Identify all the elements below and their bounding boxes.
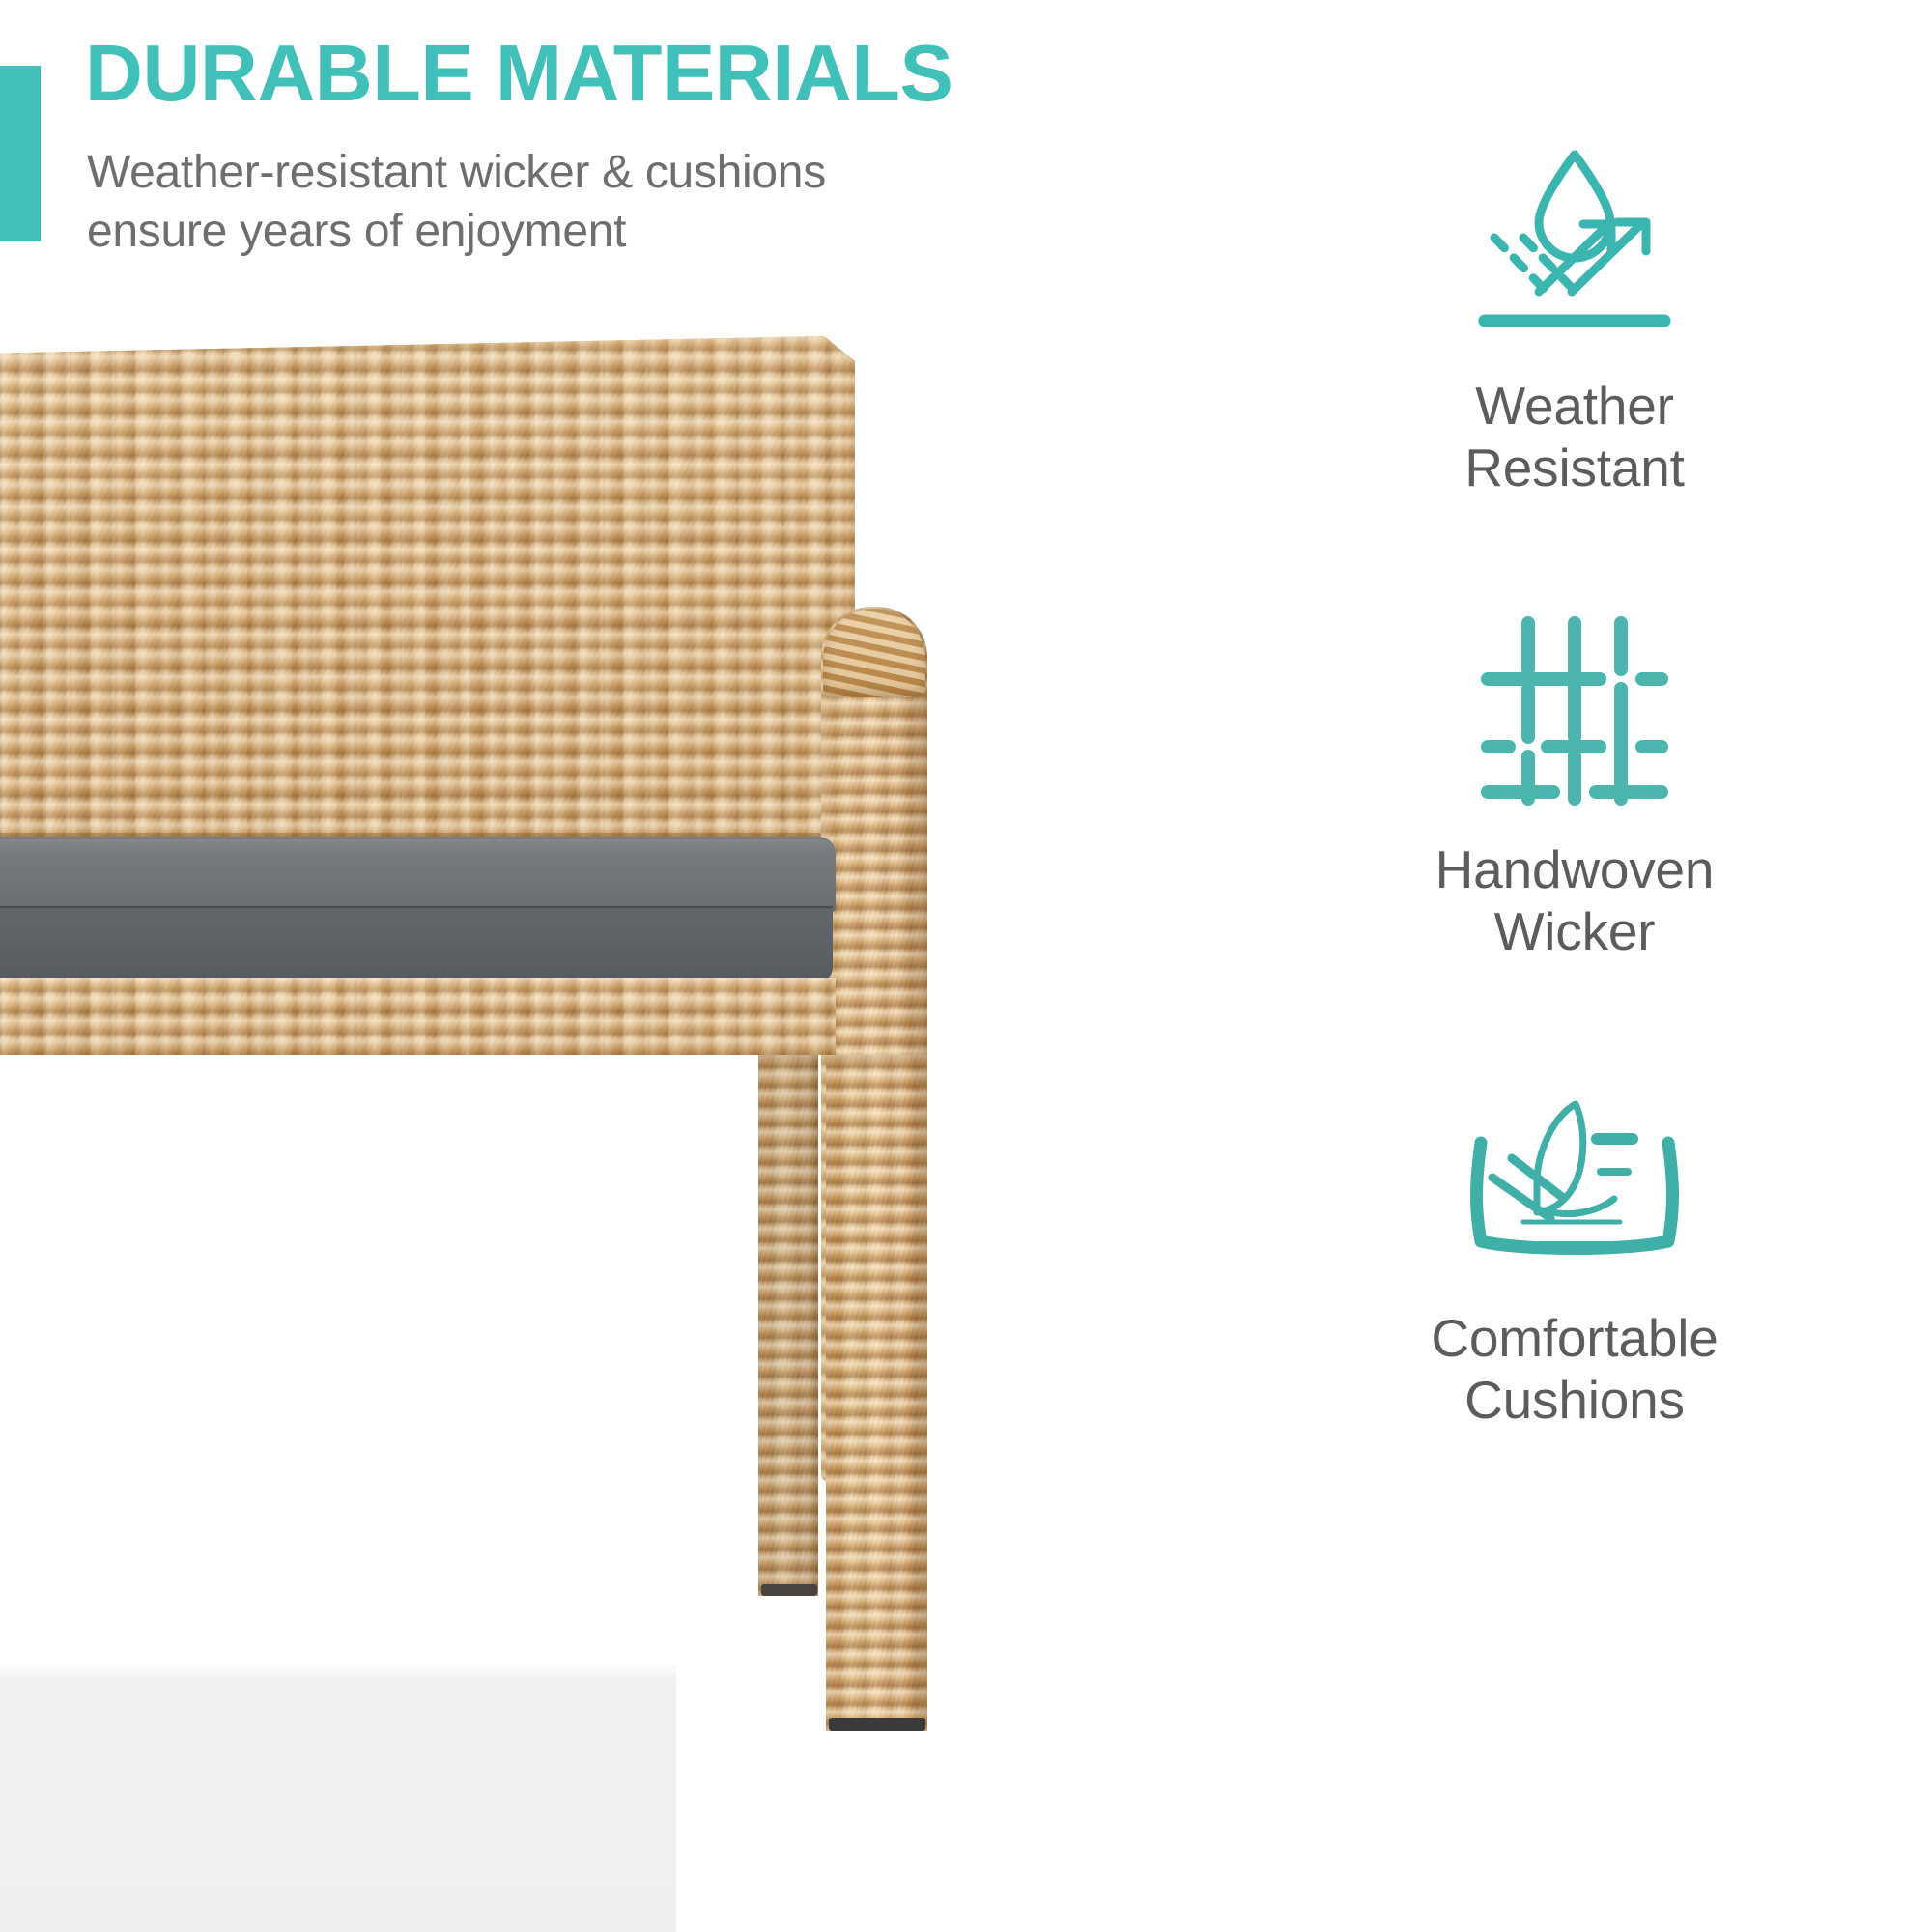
feature-item-handwoven-wicker: Handwoven Wicker (1304, 599, 1845, 963)
sofa-leg-rear (758, 1055, 818, 1596)
armrest-top-cap (823, 609, 925, 697)
sofa-leg-front (826, 1055, 927, 1731)
sofa-backrest-panel (0, 336, 855, 843)
sofa-foot-rear (761, 1584, 817, 1596)
feature-label: Weather Resistant (1304, 375, 1845, 499)
product-image-wicker-loveseat (0, 0, 966, 1835)
woven-grid-icon (1304, 599, 1845, 821)
feature-item-weather-resistant: Weather Resistant (1304, 135, 1845, 499)
water-droplet-repel-icon (1304, 135, 1845, 357)
seat-cushion-highlight (0, 839, 836, 855)
feature-label: Handwoven Wicker (1304, 838, 1845, 963)
feature-list: Weather Resistant (1188, 0, 1932, 1932)
sofa-foot-front (829, 1718, 925, 1731)
feature-label: Comfortable Cushions (1304, 1307, 1845, 1432)
seat-cushion-front (0, 909, 833, 981)
feather-on-cushion-icon (1304, 1067, 1845, 1290)
sofa-front-apron (0, 978, 836, 1055)
feature-item-comfortable-cushions: Comfortable Cushions (1304, 1067, 1845, 1432)
